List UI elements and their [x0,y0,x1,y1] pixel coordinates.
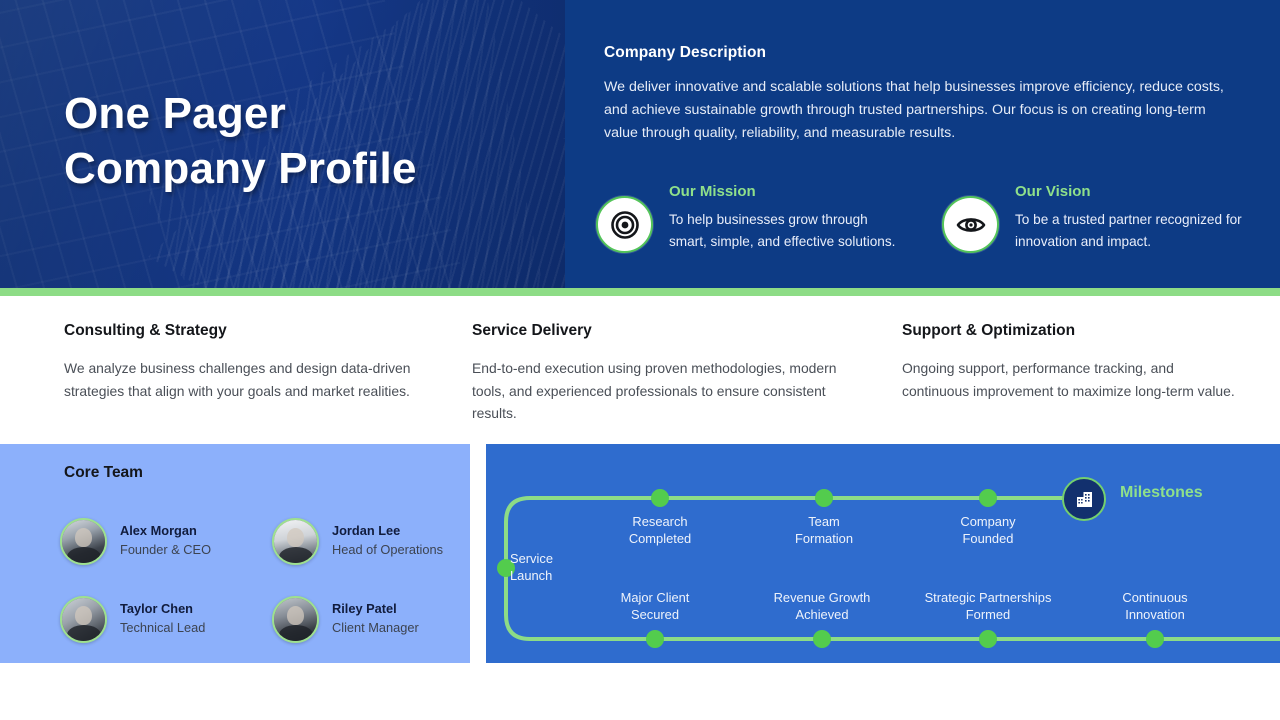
timeline-path [486,444,1280,663]
service-heading: Support & Optimization [902,322,1242,340]
page-title: One Pager Company Profile [64,86,534,197]
services-section: Consulting & Strategy We analyze busines… [0,296,1280,444]
service-heading: Service Delivery [472,322,842,340]
top-band: One Pager Company Profile Company Descri… [0,0,1280,288]
timeline-dot [979,489,997,507]
milestone-label-research-completed: Research Completed [590,514,730,547]
page-title-line2: Company Profile [64,141,534,196]
team-member-name: Alex Morgan [120,522,211,541]
milestone-label-strategic-partnerships-formed: Strategic Partnerships Formed [903,590,1073,623]
service-body: Ongoing support, performance tracking, a… [902,357,1242,402]
team-member[interactable]: Jordan Lee Head of Operations [272,502,472,580]
service-body: We analyze business challenges and desig… [64,357,424,402]
milestone-label-continuous-innovation: Continuous Innovation [1085,590,1225,623]
core-team-heading: Core Team [64,464,143,482]
avatar [60,596,107,643]
timeline-dot [979,630,997,648]
vision-body: To be a trusted partner recognized for i… [1015,209,1242,253]
target-bullseye-icon [596,196,653,253]
timeline-dot [651,489,669,507]
team-member-role: Head of Operations [332,541,443,560]
team-member-name: Riley Patel [332,600,419,619]
milestone-label-company-founded: Company Founded [918,514,1058,547]
milestone-label-major-client-secured: Major Client Secured [585,590,725,623]
core-team-grid: Alex Morgan Founder & CEO Jordan Lee Hea… [60,502,460,658]
mission-block: Our Mission To help businesses grow thro… [596,196,896,253]
team-member[interactable]: Alex Morgan Founder & CEO [60,502,272,580]
service-body: End-to-end execution using proven method… [472,357,842,425]
team-member-role: Founder & CEO [120,541,211,560]
vision-block: Our Vision To be a trusted partner recog… [942,196,1242,253]
timeline-dot [646,630,664,648]
milestone-label-team-formation: Team Formation [754,514,894,547]
green-divider [0,288,1280,296]
building-icon [1062,477,1106,521]
team-member[interactable]: Taylor Chen Technical Lead [60,580,272,658]
milestones-label: Milestones [1120,484,1203,502]
timeline-dot [813,630,831,648]
eye-icon [942,196,999,253]
one-pager-slide: One Pager Company Profile Company Descri… [0,0,1280,720]
team-member[interactable]: Riley Patel Client Manager [272,580,472,658]
company-description-body: We deliver innovative and scalable solut… [604,76,1224,145]
avatar [60,518,107,565]
core-team-panel: Core Team Alex Morgan Founder & CEO Jord… [0,444,470,663]
milestones-panel: Milestones Service Launch Research Compl… [486,444,1280,663]
mission-heading: Our Mission [669,183,896,200]
team-member-role: Technical Lead [120,619,205,638]
timeline-dot [1146,630,1164,648]
vision-heading: Our Vision [1015,183,1242,200]
avatar [272,596,319,643]
team-member-role: Client Manager [332,619,419,638]
team-member-name: Taylor Chen [120,600,205,619]
service-card-consulting: Consulting & Strategy We analyze busines… [64,322,424,402]
company-description-block: Company Description We deliver innovativ… [604,44,1224,145]
milestone-label-revenue-growth-achieved: Revenue Growth Achieved [742,590,902,623]
milestone-label-service-launch: Service Launch [478,551,578,584]
team-member-name: Jordan Lee [332,522,443,541]
page-title-line1: One Pager [64,86,534,141]
service-card-support: Support & Optimization Ongoing support, … [902,322,1242,402]
company-description-heading: Company Description [604,44,1224,62]
service-heading: Consulting & Strategy [64,322,424,340]
avatar [272,518,319,565]
mission-body: To help businesses grow through smart, s… [669,209,896,253]
mission-vision-row: Our Mission To help businesses grow thro… [596,196,1256,253]
service-card-delivery: Service Delivery End-to-end execution us… [472,322,842,425]
timeline-dot [815,489,833,507]
